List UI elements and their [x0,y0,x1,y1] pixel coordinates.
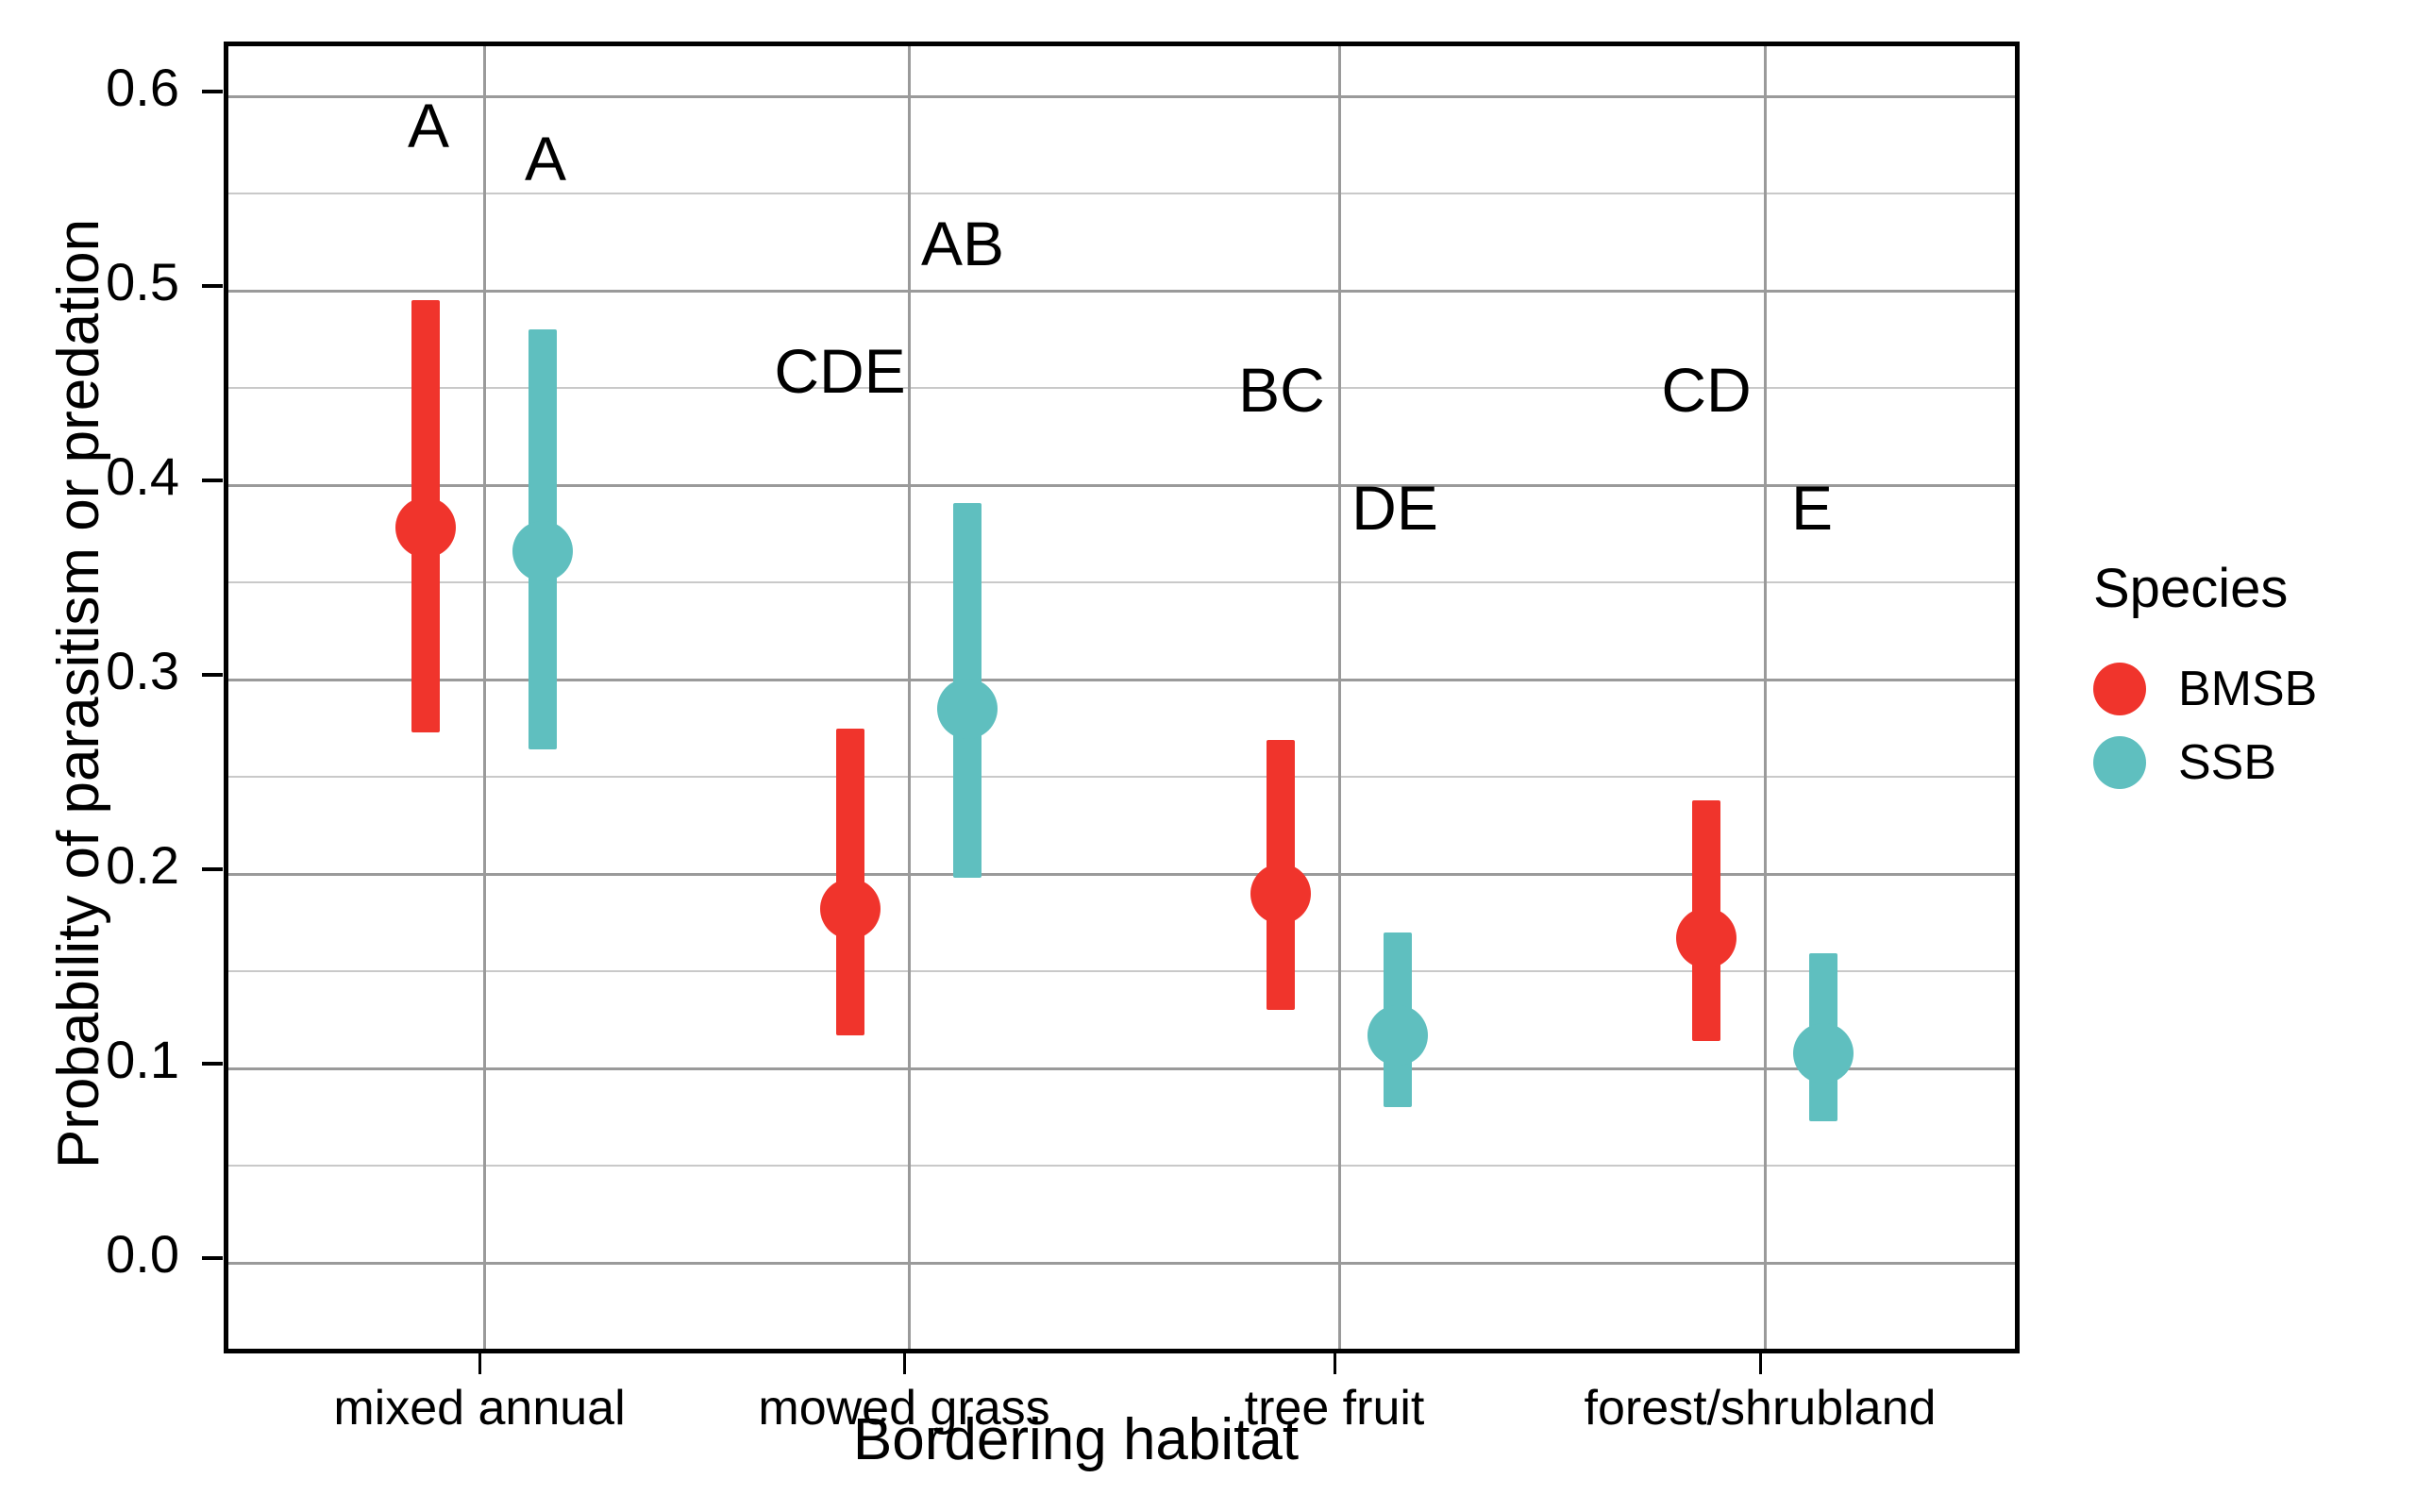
gridline-vertical [1338,46,1341,1349]
gridline-major [228,290,2015,293]
chart-figure: Probability of parasitism or predation 0… [0,0,2416,1512]
data-point [1250,864,1311,924]
x-axis-title: Bordering habitat [226,1406,1925,1473]
gridline-vertical [1764,46,1767,1349]
y-tick-label: 0.2 [38,834,179,896]
y-tick-label: 0.1 [38,1029,179,1090]
gridline-minor [228,581,2015,583]
data-point [1793,1023,1854,1084]
y-tick-label: 0.6 [38,57,179,118]
legend-entries: BMSBSSB [2093,652,2405,799]
data-point [937,679,998,739]
y-tick-label: 0.0 [38,1223,179,1285]
data-point [820,879,881,939]
y-tick-mark [202,1062,223,1066]
gridline-minor [228,970,2015,972]
gridline-major [228,1262,2015,1265]
legend-label: SSB [2178,734,2276,791]
gridline-minor [228,193,2015,194]
legend-label: BMSB [2178,661,2317,717]
gridline-major [228,873,2015,876]
y-tick-mark [202,90,223,93]
significance-label: E [1791,472,1833,544]
significance-label: DE [1351,472,1438,544]
gridline-major [228,484,2015,487]
gridline-major [228,95,2015,98]
significance-label: CD [1661,354,1751,426]
y-tick-label: 0.3 [38,640,179,701]
significance-label: BC [1238,354,1325,426]
y-tick-mark [202,479,223,482]
y-tick-label: 0.4 [38,445,179,507]
y-tick-mark [202,284,223,288]
legend-key-icon [2093,663,2146,715]
significance-label: AB [921,208,1004,279]
legend-entry[interactable]: BMSB [2093,652,2405,726]
x-tick-mark [478,1353,481,1374]
plot-area [228,46,2015,1349]
gridline-vertical [483,46,486,1349]
significance-label: CDE [774,335,905,407]
legend-key-icon [2093,736,2146,789]
gridline-minor [228,776,2015,778]
significance-label: A [525,123,566,194]
legend-title: Species [2093,557,2405,620]
x-tick-mark [903,1353,906,1374]
data-point [1676,908,1736,968]
significance-label: A [408,90,449,161]
legend-entry[interactable]: SSB [2093,726,2405,799]
y-tick-mark [202,673,223,677]
data-point [395,497,456,558]
gridline-major [228,679,2015,681]
y-tick-mark [202,1256,223,1260]
legend: Species BMSBSSB [2093,557,2405,799]
gridline-minor [228,1165,2015,1167]
plot-panel [224,42,2020,1353]
data-point [1367,1005,1428,1066]
x-tick-mark [1759,1353,1762,1374]
gridline-vertical [908,46,911,1349]
y-tick-label: 0.5 [38,251,179,312]
data-point [512,521,573,581]
y-tick-mark [202,867,223,871]
x-tick-mark [1334,1353,1336,1374]
gridline-major [228,1067,2015,1070]
